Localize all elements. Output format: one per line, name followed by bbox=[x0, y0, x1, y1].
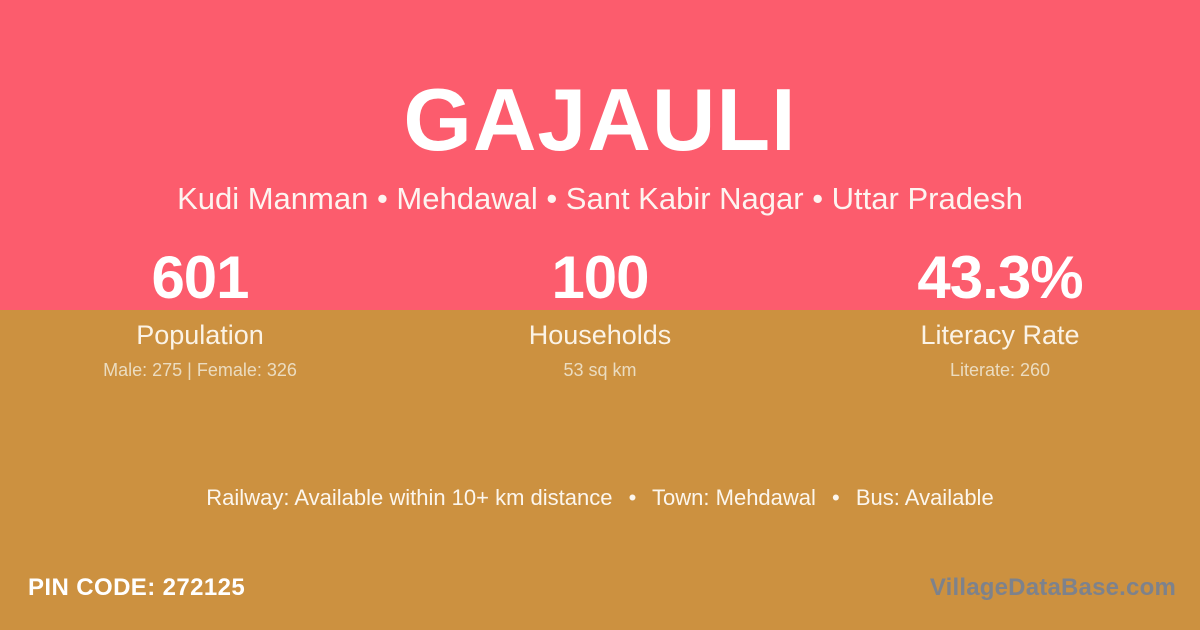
page-title: GAJAULI bbox=[0, 0, 1200, 164]
stat-population: 601 Population Male: 275 | Female: 326 bbox=[0, 246, 400, 380]
pin-code-label: PIN CODE: 272125 bbox=[28, 572, 245, 603]
stat-households: 100 Households 53 sq km bbox=[400, 246, 800, 380]
amenities-line: Railway: Available within 10+ km distanc… bbox=[0, 485, 1200, 511]
stat-value-households: 100 bbox=[400, 246, 800, 309]
card-header: GAJAULI Kudi Manman • Mehdawal • Sant Ka… bbox=[0, 0, 1200, 216]
stat-label-population: Population bbox=[0, 321, 400, 351]
stat-value-literacy-rate: 43.3% bbox=[800, 246, 1200, 309]
stat-sub-literacy-rate: Literate: 260 bbox=[800, 361, 1200, 381]
stat-literacy-rate: 43.3% Literacy Rate Literate: 260 bbox=[800, 246, 1200, 380]
stat-value-population: 601 bbox=[0, 246, 400, 309]
stats-row: 601 Population Male: 275 | Female: 326 1… bbox=[0, 246, 1200, 380]
amenity-town: Town: Mehdawal bbox=[652, 485, 816, 510]
stat-sub-population: Male: 275 | Female: 326 bbox=[0, 361, 400, 381]
amenity-separator-2: • bbox=[822, 485, 850, 510]
stat-label-households: Households bbox=[400, 321, 800, 351]
card-footer: PIN CODE: 272125 VillageDataBase.com bbox=[0, 572, 1200, 616]
amenity-railway: Railway: Available within 10+ km distanc… bbox=[206, 485, 612, 510]
breadcrumb: Kudi Manman • Mehdawal • Sant Kabir Naga… bbox=[0, 164, 1200, 216]
amenity-bus: Bus: Available bbox=[856, 485, 994, 510]
stat-sub-households: 53 sq km bbox=[400, 361, 800, 381]
village-info-card: GAJAULI Kudi Manman • Mehdawal • Sant Ka… bbox=[0, 0, 1200, 630]
site-brand-label: VillageDataBase.com bbox=[930, 572, 1176, 603]
amenity-separator-1: • bbox=[619, 485, 647, 510]
stat-label-literacy-rate: Literacy Rate bbox=[800, 321, 1200, 351]
